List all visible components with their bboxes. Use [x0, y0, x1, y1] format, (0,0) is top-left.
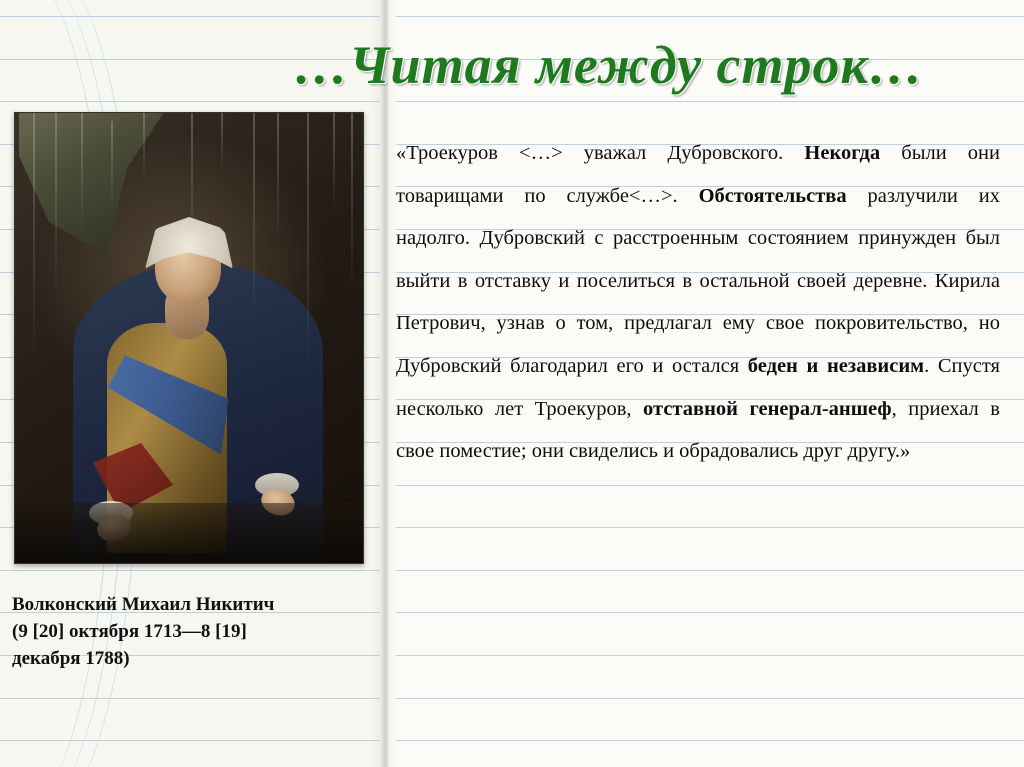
craquelure-streak	[55, 113, 57, 293]
quote-segment: разлучили их надолго. Дубровский с расст…	[396, 185, 1000, 377]
portrait-image	[14, 112, 364, 564]
craquelure-streak	[143, 113, 145, 183]
rule-line	[396, 485, 1024, 486]
quote-emphasis: Обстоятельства	[699, 185, 847, 207]
quote-emphasis: Некогда	[804, 142, 880, 164]
portrait-canvas	[15, 113, 363, 563]
caption-line-1: Волконский Михаил Никитич	[12, 592, 378, 619]
rule-line	[0, 570, 380, 571]
rule-line	[396, 570, 1024, 571]
rule-line	[396, 612, 1024, 613]
portrait-caption: Волконский Михаил Никитич (9 [20] октябр…	[12, 592, 378, 673]
craquelure-streak	[351, 113, 353, 293]
rule-line	[396, 740, 1024, 741]
rule-line	[0, 101, 380, 102]
craquelure-streak	[333, 113, 335, 213]
rule-line	[396, 527, 1024, 528]
quote-text: «Троекуров <…> уважал Дубровского. Неког…	[396, 132, 1000, 473]
foreground-shadow	[15, 503, 363, 563]
quote-segment: «Троекуров <…> уважал Дубровского.	[396, 142, 804, 164]
craquelure-streak	[81, 113, 83, 233]
page-title: …Читая между строк…	[214, 34, 1004, 96]
craquelure-streak	[191, 113, 193, 263]
rule-line	[396, 655, 1024, 656]
rule-line	[396, 101, 1024, 102]
quote-emphasis: отставной генерал-аншеф	[643, 398, 892, 420]
rule-line	[0, 16, 380, 17]
craquelure-streak	[33, 113, 35, 363]
drapery	[19, 112, 169, 255]
craquelure-streak	[221, 113, 223, 173]
rule-line	[0, 698, 380, 699]
rule-line	[0, 740, 380, 741]
craquelure-streak	[277, 113, 279, 243]
quote-emphasis: беден и независим	[748, 355, 924, 377]
craquelure-streak	[253, 113, 255, 323]
rule-line	[396, 16, 1024, 17]
craquelure-streak	[111, 121, 113, 211]
rule-line	[396, 698, 1024, 699]
slide: …Читая между строк… Волконский Михаил Ни…	[0, 0, 1024, 767]
craquelure-streak	[307, 113, 309, 373]
caption-line-2: (9 [20] октября 1713—8 [19]	[12, 619, 378, 646]
caption-line-3: декабря 1788)	[12, 646, 378, 673]
